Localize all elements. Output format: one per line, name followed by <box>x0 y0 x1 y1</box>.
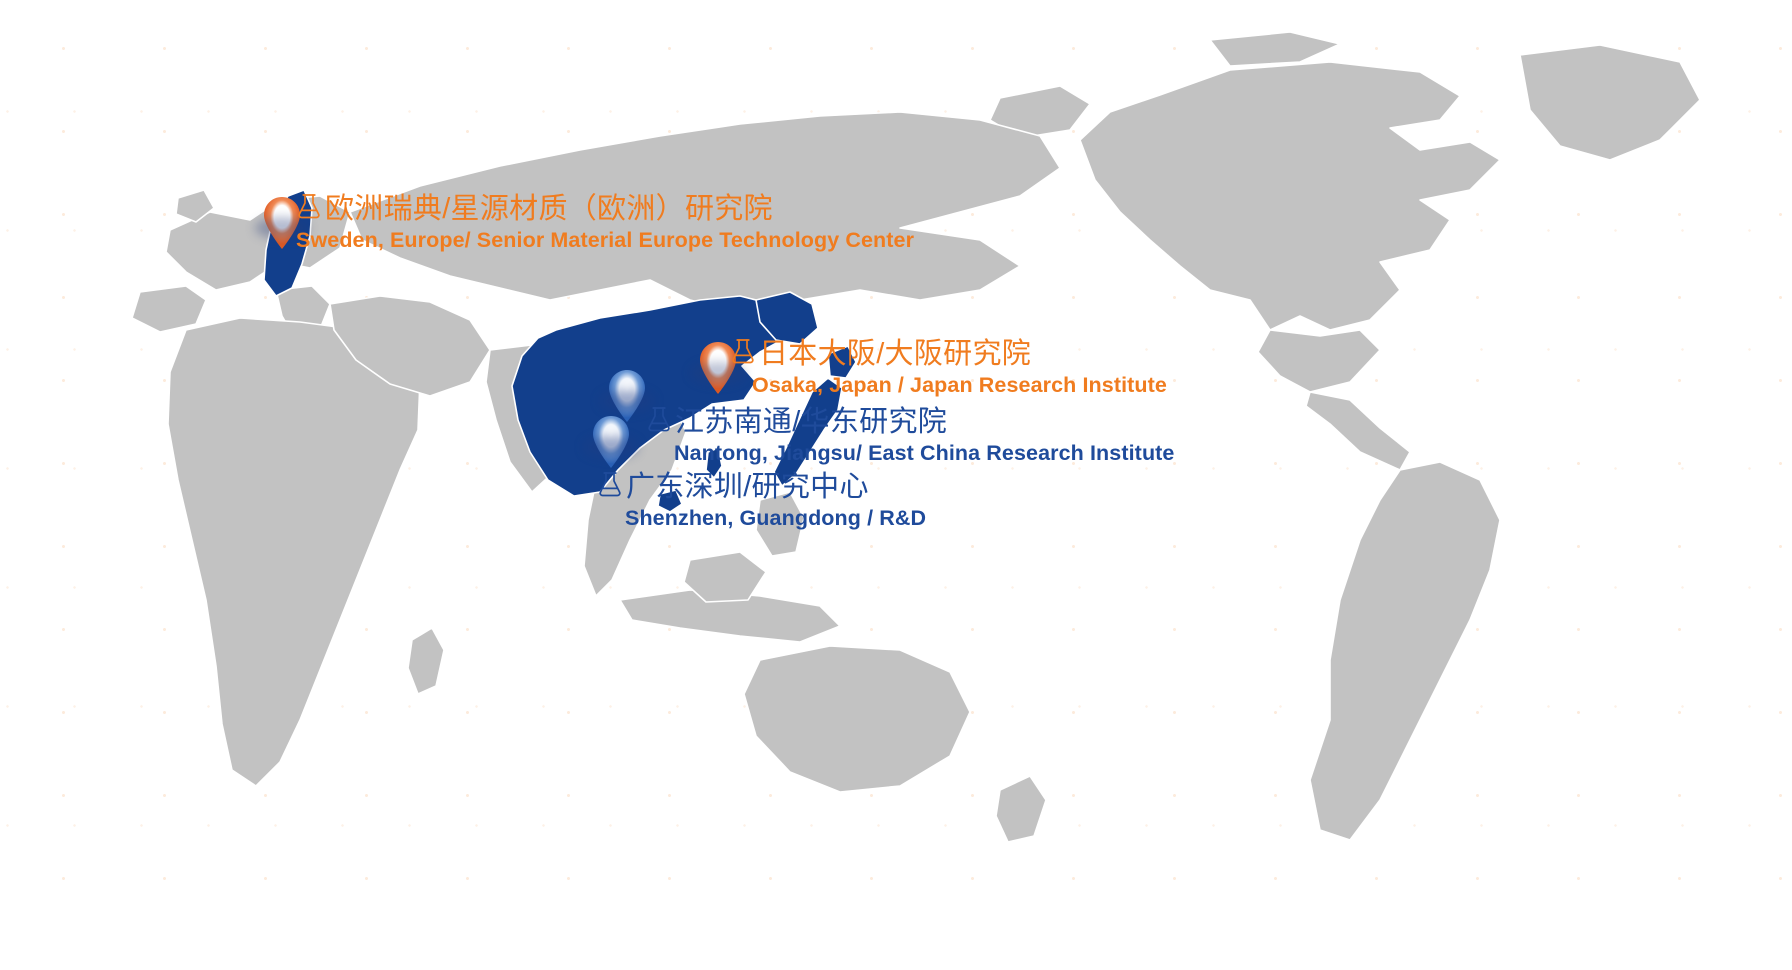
label-cn-line: 广东深圳/研究中心 <box>597 470 926 505</box>
label-cn-text: 江苏南通/华东研究院 <box>675 407 947 438</box>
land-africa <box>168 318 420 786</box>
label-en-text: Shenzhen, Guangdong / R&D <box>625 507 926 530</box>
label-cn-line: 日本大阪/大阪研究院 <box>730 337 1167 372</box>
location-label-sweden-europe[interactable]: 欧洲瑞典/星源材质（欧洲）研究院 Sweden, Europe/ Senior … <box>296 192 914 252</box>
land-north-america <box>1080 62 1500 330</box>
map-pin-shenzhen[interactable] <box>588 412 634 474</box>
land-greenland <box>1520 45 1700 160</box>
location-label-nantong-jiangsu[interactable]: 江苏南通/华东研究院 Nantong, Jiangsu/ East China … <box>646 405 1175 465</box>
label-en-text: Osaka, Japan / Japan Research Institute <box>752 374 1167 397</box>
land-canada-islands <box>1210 32 1340 66</box>
label-cn-text: 广东深圳/研究中心 <box>626 472 869 503</box>
flask-icon <box>597 470 623 505</box>
flask-icon <box>296 192 322 227</box>
land-madagascar <box>408 628 444 694</box>
pin-shadow-glow <box>584 436 638 458</box>
location-label-osaka-japan[interactable]: 日本大阪/大阪研究院 Osaka, Japan / Japan Research… <box>730 337 1167 397</box>
land-south-america <box>1310 462 1500 840</box>
flask-icon <box>646 405 672 440</box>
land-usa-south <box>1258 330 1380 392</box>
label-en-text: Nantong, Jiangsu/ East China Research In… <box>674 442 1175 465</box>
land-new-zealand <box>996 776 1046 842</box>
label-en-text: Sweden, Europe/ Senior Material Europe T… <box>296 229 914 252</box>
flask-icon <box>730 337 756 372</box>
location-label-shenzhen-guangdong[interactable]: 广东深圳/研究中心 Shenzhen, Guangdong / R&D <box>597 470 926 530</box>
label-cn-line: 欧洲瑞典/星源材质（欧洲）研究院 <box>296 192 914 227</box>
land-iberia <box>132 286 206 332</box>
land-australia <box>744 646 970 792</box>
land-antarctic-fringe <box>0 928 1792 970</box>
label-cn-text: 欧洲瑞典/星源材质（欧洲）研究院 <box>325 194 773 225</box>
label-cn-line: 江苏南通/华东研究院 <box>646 405 1175 440</box>
label-cn-text: 日本大阪/大阪研究院 <box>759 339 1031 370</box>
land-central-america <box>1306 392 1410 470</box>
world-map-infographic: 欧洲瑞典/星源材质（欧洲）研究院 Sweden, Europe/ Senior … <box>0 0 1792 970</box>
